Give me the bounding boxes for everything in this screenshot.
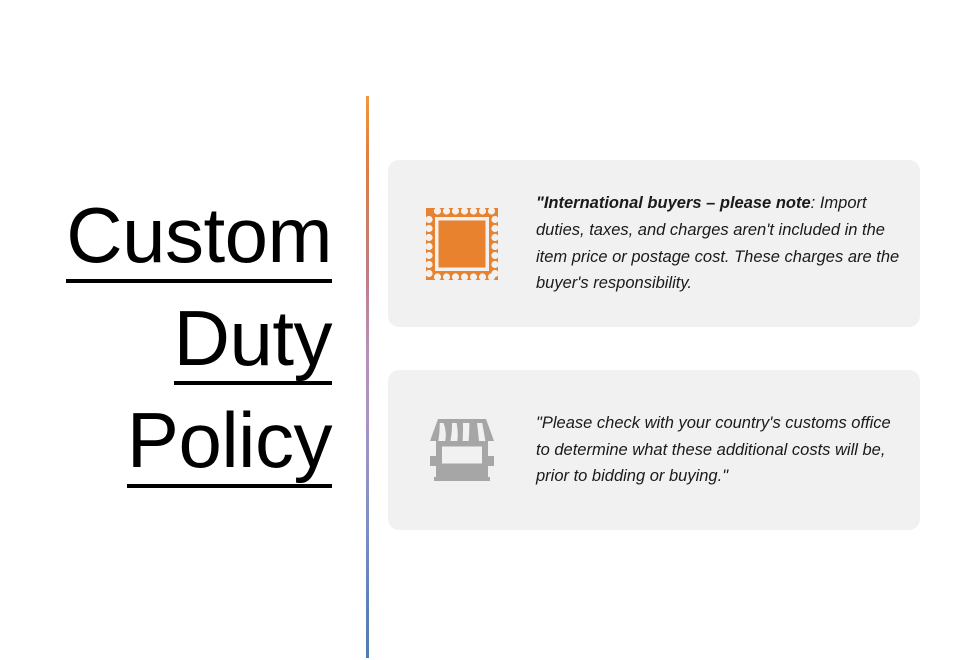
title-line-1: Custom xyxy=(0,196,332,283)
info-card-text-bold: "International buyers – please note xyxy=(536,194,811,212)
info-card: "International buyers – please note: Imp… xyxy=(388,160,920,327)
title-line-3: Policy xyxy=(0,401,332,488)
storefront-icon xyxy=(388,415,536,485)
info-card-text: "International buyers – please note: Imp… xyxy=(536,190,920,297)
info-card-text: "Please check with your country's custom… xyxy=(536,410,920,490)
title-line-1-text: Custom xyxy=(66,196,332,283)
postage-stamp-icon xyxy=(388,207,536,281)
info-card: "Please check with your country's custom… xyxy=(388,370,920,530)
info-card-text-rest: "Please check with your country's custom… xyxy=(536,414,891,485)
slide-canvas: Custom Duty Policy xyxy=(0,0,960,660)
title-line-2-text: Duty xyxy=(174,299,332,386)
title-line-2: Duty xyxy=(0,299,332,386)
page-title: Custom Duty Policy xyxy=(0,196,332,504)
title-line-3-text: Policy xyxy=(127,401,332,488)
vertical-gradient-divider xyxy=(366,96,369,658)
